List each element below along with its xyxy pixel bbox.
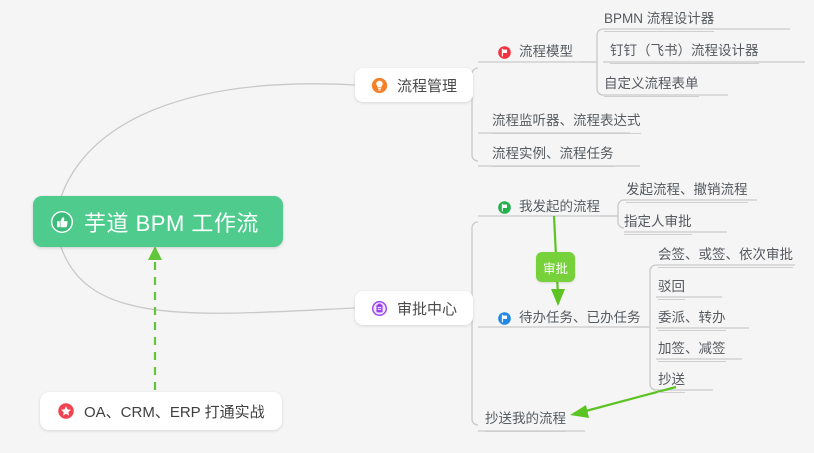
trunk-approval [472,222,478,425]
category-label: 流程管理 [397,75,457,96]
node-label: 待办任务、已办任务 [519,310,641,326]
leaf-countersign[interactable]: 会签、或签、依次审批 [658,247,793,268]
link-root-to-approval [60,244,355,313]
lightbulb-icon [371,77,388,94]
star-icon [57,402,75,420]
cc-flow-arrowhead [570,405,589,418]
footnote-node[interactable]: OA、CRM、ERP 打通实战 [40,392,282,430]
leaf-custom-form[interactable]: 自定义流程表单 [604,76,699,97]
node-label: 流程模型 [519,44,573,60]
link-root-to-process [60,84,355,200]
flag-icon [497,45,512,60]
leaf-add-remove-sign[interactable]: 加签、减签 [658,341,726,362]
node-cc-to-me[interactable]: 抄送我的流程 [485,411,566,432]
leaf-dingtalk-designer[interactable]: 钉钉（飞书）流程设计器 [610,43,759,64]
node-process-instance[interactable]: 流程实例、流程任务 [492,146,614,167]
root-node[interactable]: 芋道 BPM 工作流 [33,196,283,247]
leaf-delegate-transfer[interactable]: 委派、转办 [658,310,726,331]
node-process-model[interactable]: 流程模型 [497,44,573,60]
footnote-label: OA、CRM、ERP 打通实战 [84,401,265,422]
node-my-initiated[interactable]: 我发起的流程 [497,199,600,215]
node-process-listener[interactable]: 流程监听器、流程表达式 [492,113,641,134]
leaf-start-cancel-process[interactable]: 发起流程、撤销流程 [626,182,748,203]
category-label: 审批中心 [397,298,457,319]
category-node-approval-center[interactable]: 审批中心 [355,291,473,325]
clipboard-icon [371,300,388,317]
trunk-model [597,29,603,95]
approval-flow-arrowhead [551,289,565,306]
leaf-assignee-approval[interactable]: 指定人审批 [624,214,692,235]
thumbs-up-icon [50,210,74,234]
leaf-cc[interactable]: 抄送 [658,372,685,393]
trunk-todo [650,265,656,390]
flag-icon [497,311,512,326]
flag-icon [497,200,512,215]
leaf-bpmn-designer[interactable]: BPMN 流程设计器 [604,11,714,32]
node-todo-done-tasks[interactable]: 待办任务、已办任务 [497,310,641,326]
leaf-reject[interactable]: 驳回 [658,279,685,300]
root-label: 芋道 BPM 工作流 [84,206,259,238]
category-node-process-management[interactable]: 流程管理 [355,68,473,102]
footnote-arrowhead [148,246,162,260]
mindmap-canvas: 芋道 BPM 工作流 流程管理 审批中心 [0,0,814,453]
node-label: 我发起的流程 [519,199,600,215]
approval-tag[interactable]: 审批 [536,252,575,282]
